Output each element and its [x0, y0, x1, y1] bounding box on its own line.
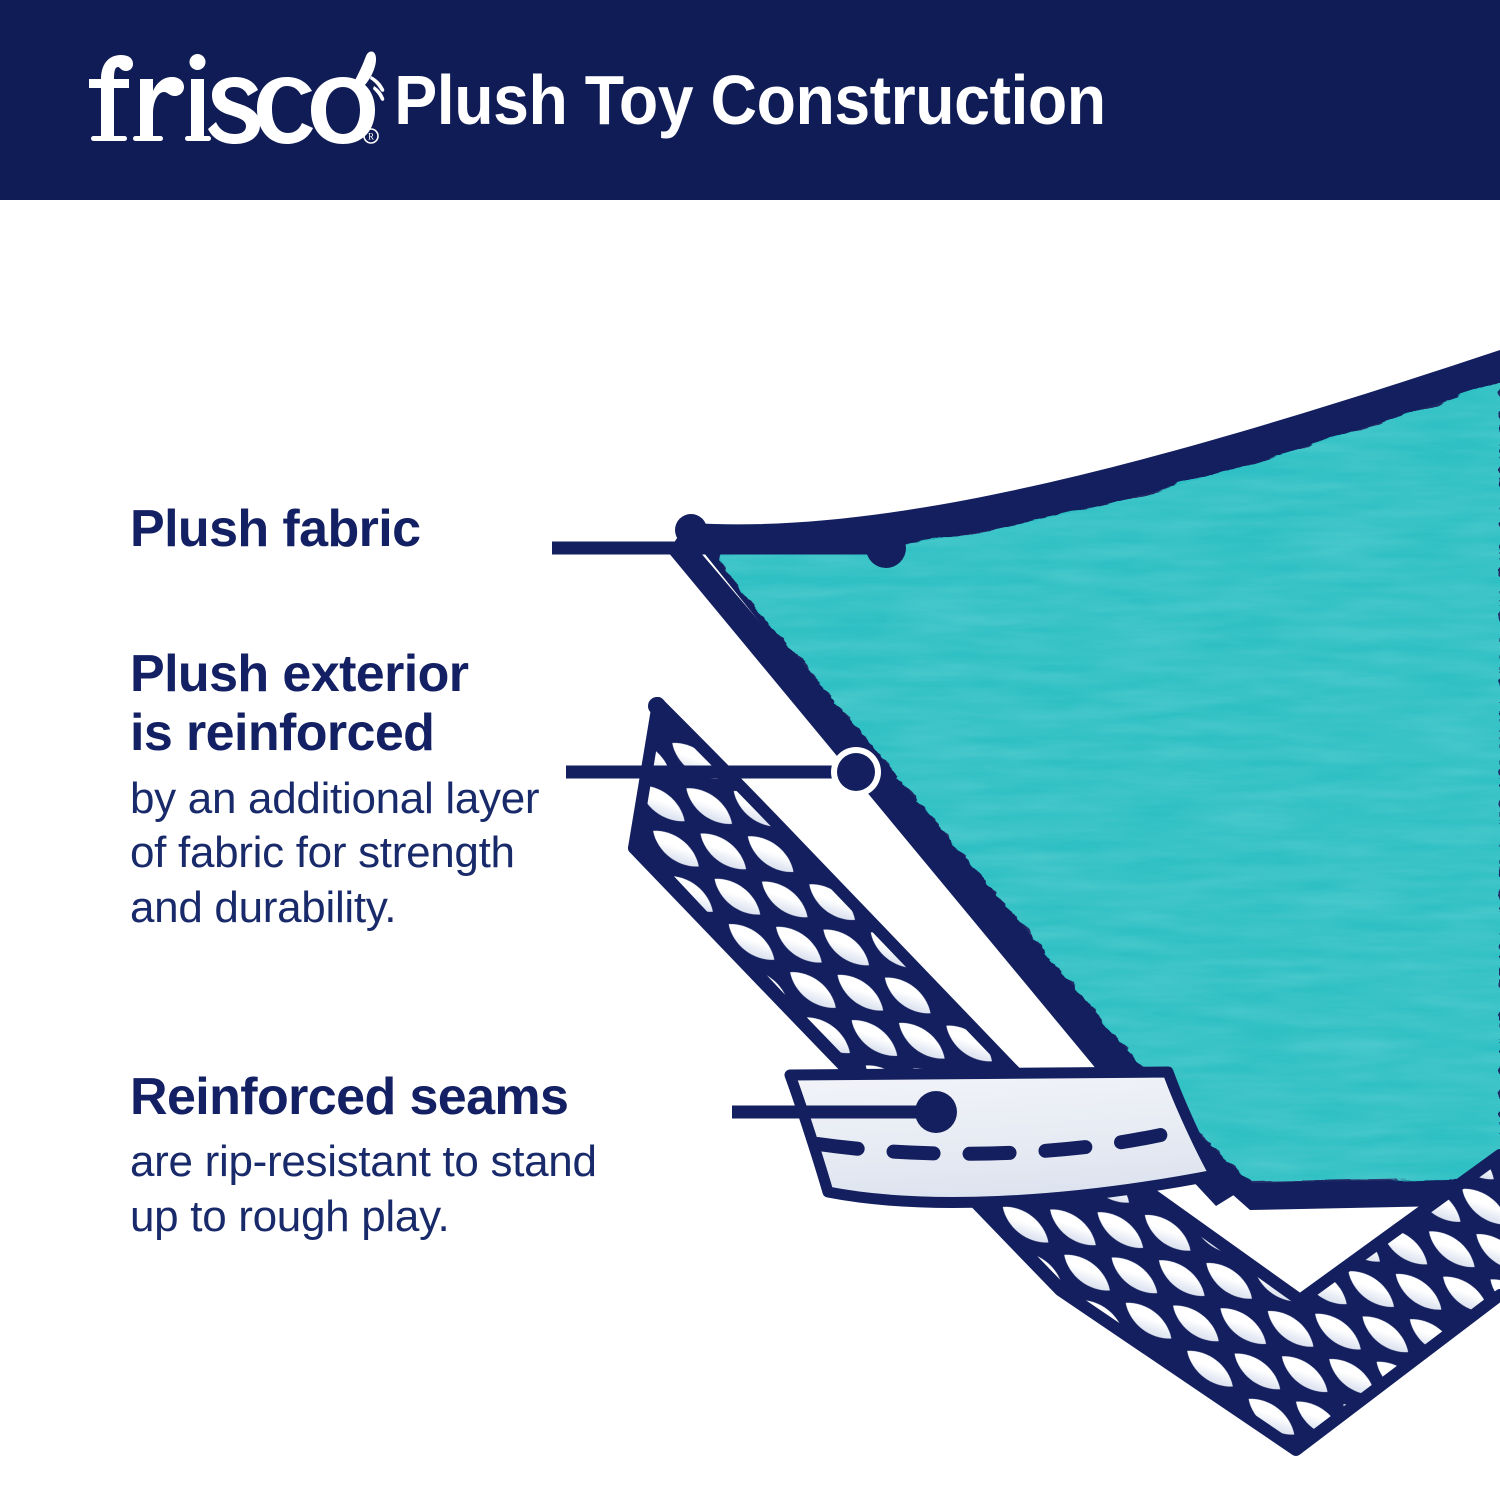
seam-flap-shape [790, 1072, 1215, 1202]
callout-heading-plush-fabric: Plush fabric [130, 500, 420, 559]
infographic-page: R Plush Toy Construction [0, 0, 1500, 1500]
svg-text:R: R [368, 132, 374, 142]
leader-dot-plush-fabric [866, 528, 906, 568]
callout-plush-fabric: Plush fabric [130, 500, 420, 559]
frisco-logo: R [85, 48, 385, 148]
callout-body-reinforced-seams: are rip-resistant to stand up to rough p… [130, 1135, 597, 1244]
callout-body-plush-exterior: by an additional layer of fabric for str… [130, 772, 539, 936]
leader-dot-reinforced-seams [915, 1091, 957, 1133]
leader-dot-plush-exterior [837, 753, 875, 791]
callout-plush-exterior: Plush exterior is reinforced by an addit… [130, 645, 539, 935]
callout-heading-plush-exterior: Plush exterior is reinforced [130, 645, 539, 764]
callout-heading-reinforced-seams: Reinforced seams [130, 1068, 597, 1127]
callout-reinforced-seams: Reinforced seams are rip-resistant to st… [130, 1068, 597, 1244]
header-bar: R Plush Toy Construction [0, 0, 1500, 200]
